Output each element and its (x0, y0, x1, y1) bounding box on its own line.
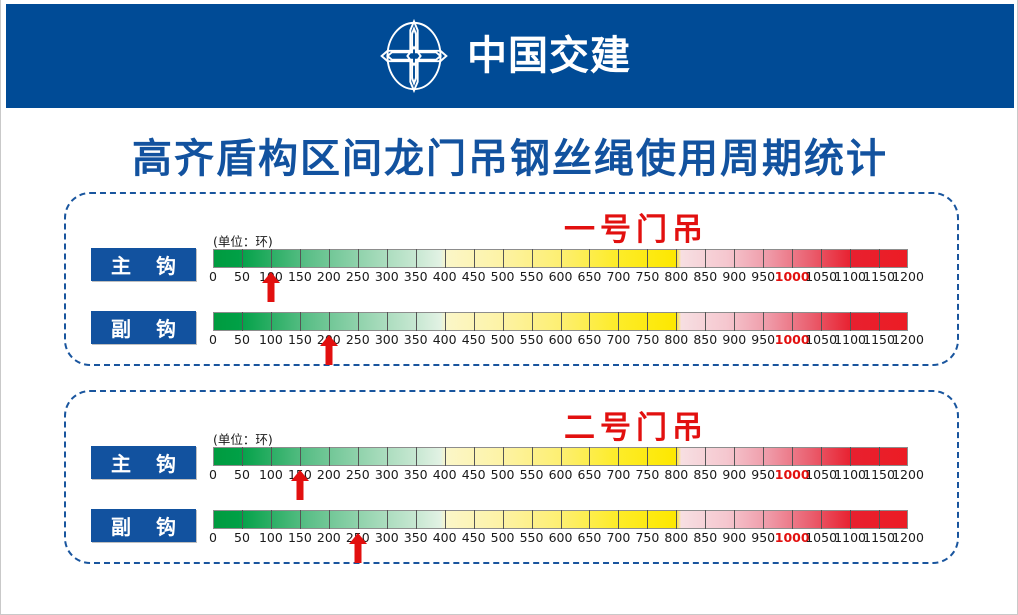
scale-tick-label: 1150 (863, 269, 895, 284)
scale-tick-label: 750 (635, 332, 659, 347)
scale-tick-label: 850 (693, 332, 717, 347)
scale-tick (763, 447, 764, 466)
scale-tick-label: 50 (234, 530, 250, 545)
scale-tick (387, 510, 388, 529)
scale-tick (503, 510, 504, 529)
scale-tick-label: 950 (751, 530, 775, 545)
scale-tick (532, 249, 533, 268)
scale-tick-labels: 0501001502002503003504004505005506006507… (213, 467, 908, 485)
scale-tick (821, 447, 822, 466)
scale-tick (589, 312, 590, 331)
scale-tick (850, 447, 851, 466)
scale-tick (387, 447, 388, 466)
scale-tick-labels: 0501001502002503003504004505005506006507… (213, 530, 908, 548)
scale-tick-label: 600 (549, 530, 573, 545)
scale-tick (271, 249, 272, 268)
scale-tick-label: 500 (491, 332, 515, 347)
scale-tick (879, 510, 880, 529)
scale-tick-label: 500 (491, 269, 515, 284)
scale-tick (329, 312, 330, 331)
header-banner: 中国交建 (6, 4, 1014, 108)
scale-tick (589, 510, 590, 529)
scale-tick (763, 510, 764, 529)
scale-tick-marks (213, 249, 908, 268)
scale-tick-label: 650 (578, 530, 602, 545)
hook-label: 主 钩 (91, 446, 196, 479)
scale-tick-label: 1200 (892, 530, 924, 545)
hook-row: 副 钩0501001502002503003504004505005506006… (66, 305, 961, 365)
hook-row: 主 钩0501001502002503003504004505005506006… (66, 440, 961, 500)
scale-tick-label: 1200 (892, 332, 924, 347)
scale-tick-label: 300 (375, 269, 399, 284)
scale-tick-label: 550 (520, 332, 544, 347)
scale-tick-label: 1150 (863, 530, 895, 545)
scale-tick (618, 312, 619, 331)
scale-tick (850, 312, 851, 331)
scale-tick-label: 550 (520, 269, 544, 284)
scale-tick-label: 1200 (892, 269, 924, 284)
scale-tick-label: 800 (664, 530, 688, 545)
scale-tick (416, 249, 417, 268)
scale-tick-label: 400 (433, 269, 457, 284)
scale-tick (792, 510, 793, 529)
scale-tick (387, 249, 388, 268)
scale-tick-label: 750 (635, 269, 659, 284)
scale-tick-label: 400 (433, 332, 457, 347)
scale-tick-label: 950 (751, 269, 775, 284)
scale-tick (242, 312, 243, 331)
scale-tick (561, 447, 562, 466)
scale-tick-label: 650 (578, 269, 602, 284)
scale-tick-label: 1100 (834, 467, 866, 482)
scale-tick-label: 1100 (834, 332, 866, 347)
scale-tick-marks (213, 447, 908, 466)
scale-tick (242, 447, 243, 466)
scale-tick-label: 350 (404, 530, 428, 545)
scale-tick-label: 950 (751, 467, 775, 482)
scale-tick (416, 510, 417, 529)
cccc-compass-logo-icon (377, 17, 451, 95)
scale-tick-label: 350 (404, 467, 428, 482)
scale-tick (271, 312, 272, 331)
scale-tick (589, 447, 590, 466)
scale-tick (589, 249, 590, 268)
scale-tick (763, 312, 764, 331)
value-marker-arrow (348, 533, 368, 563)
scale-tick-label: 1200 (892, 467, 924, 482)
scale-tick (821, 510, 822, 529)
scale-tick-labels: 0501001502002503003504004505005506006507… (213, 269, 908, 287)
scale-tick (850, 510, 851, 529)
scale-tick-label: 400 (433, 467, 457, 482)
scale-tick-label: 150 (288, 530, 312, 545)
scale-tick-label: 450 (462, 530, 486, 545)
usage-scale: 0501001502002503003504004505005506006507… (213, 503, 908, 563)
scale-tick-label: 700 (606, 530, 630, 545)
scale-tick (821, 312, 822, 331)
scale-tick (676, 447, 677, 466)
scale-tick (445, 312, 446, 331)
scale-tick-label: 750 (635, 530, 659, 545)
scale-tick-label: 200 (317, 467, 341, 482)
scale-tick-marks (213, 510, 908, 529)
scale-tick (416, 447, 417, 466)
scale-tick (445, 249, 446, 268)
scale-tick (329, 510, 330, 529)
hook-label: 副 钩 (91, 509, 196, 542)
scale-tick (445, 510, 446, 529)
poster-page: 中国交建 高齐盾构区间龙门吊钢丝绳使用周期统计 一号门吊(单位：环)主 钩050… (0, 0, 1018, 615)
scale-tick-label: 1150 (863, 332, 895, 347)
scale-tick (879, 249, 880, 268)
scale-tick-label: 600 (549, 269, 573, 284)
scale-tick (271, 510, 272, 529)
scale-tick-label: 150 (288, 269, 312, 284)
scale-tick-label: 850 (693, 467, 717, 482)
scale-tick-label: 800 (664, 332, 688, 347)
scale-tick-label: 900 (722, 332, 746, 347)
scale-tick (358, 510, 359, 529)
scale-tick (705, 312, 706, 331)
scale-tick-label: 50 (234, 467, 250, 482)
scale-tick-label: 0 (209, 530, 217, 545)
scale-tick (647, 312, 648, 331)
scale-tick (358, 249, 359, 268)
scale-tick-label: 950 (751, 332, 775, 347)
scale-tick-label: 250 (346, 332, 370, 347)
scale-tick (532, 447, 533, 466)
scale-tick (532, 312, 533, 331)
scale-tick (734, 510, 735, 529)
scale-tick-label: 1100 (834, 530, 866, 545)
scale-tick-label: 1050 (805, 332, 837, 347)
scale-tick (734, 447, 735, 466)
scale-tick-label: 900 (722, 530, 746, 545)
scale-tick-label: 450 (462, 467, 486, 482)
scale-tick-label: 750 (635, 467, 659, 482)
scale-tick (300, 510, 301, 529)
scale-tick (879, 312, 880, 331)
scale-tick-label: 0 (209, 269, 217, 284)
scale-tick (242, 510, 243, 529)
scale-tick-marks (213, 312, 908, 331)
scale-tick (300, 249, 301, 268)
scale-tick (821, 249, 822, 268)
scale-tick-label: 200 (317, 269, 341, 284)
scale-tick-label: 250 (346, 467, 370, 482)
scale-tick-label: 1050 (805, 269, 837, 284)
scale-tick (647, 447, 648, 466)
scale-tick-label: 1150 (863, 467, 895, 482)
scale-tick (358, 312, 359, 331)
page-title: 高齐盾构区间龙门吊钢丝绳使用周期统计 (1, 126, 1018, 184)
scale-tick (879, 447, 880, 466)
scale-tick (792, 447, 793, 466)
scale-tick (329, 447, 330, 466)
scale-tick-label: 500 (491, 530, 515, 545)
scale-tick (300, 312, 301, 331)
scale-tick (474, 510, 475, 529)
scale-tick-label: 100 (259, 530, 283, 545)
scale-tick (503, 312, 504, 331)
crane-panel: 二号门吊(单位：环)主 钩050100150200250300350400450… (64, 390, 959, 564)
scale-tick (300, 447, 301, 466)
scale-tick-label: 800 (664, 269, 688, 284)
brand-text: 中国交建 (467, 36, 631, 76)
value-marker-arrow (319, 335, 339, 365)
scale-tick-label: 700 (606, 269, 630, 284)
scale-tick (676, 312, 677, 331)
scale-tick-label: 650 (578, 332, 602, 347)
scale-tick-label: 700 (606, 332, 630, 347)
scale-tick-label: 650 (578, 467, 602, 482)
scale-tick (503, 447, 504, 466)
scale-tick-label: 300 (375, 332, 399, 347)
usage-scale: 0501001502002503003504004505005506006507… (213, 242, 908, 302)
scale-tick-label: 550 (520, 530, 544, 545)
usage-scale: 0501001502002503003504004505005506006507… (213, 305, 908, 365)
scale-tick-label: 850 (693, 269, 717, 284)
scale-tick-label: 1050 (805, 530, 837, 545)
hook-label: 主 钩 (91, 248, 196, 281)
scale-tick-label: 900 (722, 467, 746, 482)
scale-tick (474, 312, 475, 331)
scale-tick (705, 510, 706, 529)
scale-tick (850, 249, 851, 268)
scale-tick-label: 500 (491, 467, 515, 482)
scale-tick (705, 249, 706, 268)
scale-tick (474, 447, 475, 466)
scale-tick (503, 249, 504, 268)
scale-tick-label: 600 (549, 332, 573, 347)
scale-tick (271, 447, 272, 466)
usage-scale: 0501001502002503003504004505005506006507… (213, 440, 908, 500)
scale-tick-label: 0 (209, 467, 217, 482)
scale-tick (676, 510, 677, 529)
scale-tick-label: 350 (404, 269, 428, 284)
scale-tick-label: 900 (722, 269, 746, 284)
scale-tick-label: 100 (259, 332, 283, 347)
brand-lockup: 中国交建 (377, 17, 631, 95)
hook-label: 副 钩 (91, 311, 196, 344)
scale-tick-label: 200 (317, 530, 341, 545)
scale-tick-label: 450 (462, 269, 486, 284)
scale-tick (532, 510, 533, 529)
scale-tick (792, 312, 793, 331)
scale-tick (416, 312, 417, 331)
scale-tick-label: 150 (288, 332, 312, 347)
scale-tick (734, 249, 735, 268)
scale-tick-label: 0 (209, 332, 217, 347)
scale-tick-label: 600 (549, 467, 573, 482)
scale-tick (561, 510, 562, 529)
scale-tick-label: 300 (375, 530, 399, 545)
scale-tick (676, 249, 677, 268)
scale-tick (618, 249, 619, 268)
scale-tick (763, 249, 764, 268)
crane-panel: 一号门吊(单位：环)主 钩050100150200250300350400450… (64, 192, 959, 366)
scale-tick (647, 249, 648, 268)
scale-tick (618, 510, 619, 529)
scale-tick-label: 450 (462, 332, 486, 347)
scale-tick (705, 447, 706, 466)
scale-tick (647, 510, 648, 529)
scale-tick-label: 700 (606, 467, 630, 482)
scale-tick-label: 350 (404, 332, 428, 347)
scale-tick (561, 249, 562, 268)
scale-tick (561, 312, 562, 331)
scale-tick-label: 1100 (834, 269, 866, 284)
scale-tick (792, 249, 793, 268)
scale-tick-label: 50 (234, 332, 250, 347)
scale-tick-label: 400 (433, 530, 457, 545)
scale-tick-label: 1050 (805, 467, 837, 482)
hook-row: 主 钩0501001502002503003504004505005506006… (66, 242, 961, 302)
scale-tick-label: 300 (375, 467, 399, 482)
value-marker-arrow (290, 470, 310, 500)
scale-tick-label: 550 (520, 467, 544, 482)
hook-row: 副 钩0501001502002503003504004505005506006… (66, 503, 961, 563)
scale-tick (242, 249, 243, 268)
scale-tick (734, 312, 735, 331)
value-marker-arrow (261, 272, 281, 302)
scale-tick-label: 50 (234, 269, 250, 284)
scale-tick-label: 850 (693, 530, 717, 545)
scale-tick-label: 800 (664, 467, 688, 482)
scale-tick-label: 250 (346, 269, 370, 284)
scale-tick (358, 447, 359, 466)
scale-tick-labels: 0501001502002503003504004505005506006507… (213, 332, 908, 350)
scale-tick-label: 100 (259, 467, 283, 482)
scale-tick (445, 447, 446, 466)
scale-tick (618, 447, 619, 466)
scale-tick (474, 249, 475, 268)
scale-tick (387, 312, 388, 331)
scale-tick (329, 249, 330, 268)
